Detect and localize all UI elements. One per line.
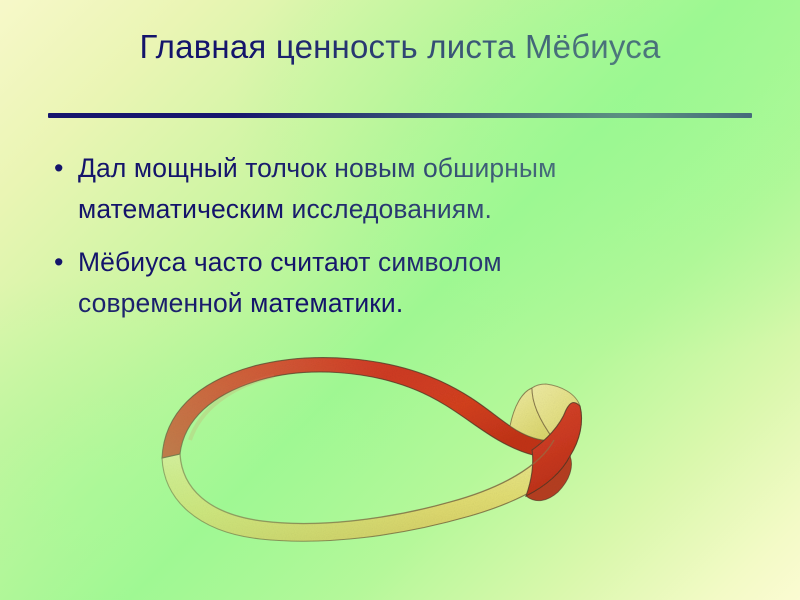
bullet-point-icon: • (50, 148, 78, 189)
mobius-top-band (162, 358, 570, 458)
mobius-strip-icon (150, 340, 590, 550)
bullet-list: • Дал мощный толчок новым обширным матем… (50, 148, 670, 336)
list-item: • Мёбиуса часто считают символом совреме… (50, 242, 670, 324)
bullet-text: Мёбиуса часто считают символом современн… (78, 242, 670, 324)
bullet-point-icon: • (50, 242, 78, 283)
mobius-strip-image (150, 340, 590, 550)
title-underline-rule (48, 113, 752, 118)
slide: Главная ценность листа Мёбиуса • Дал мощ… (0, 0, 800, 600)
mobius-front-band-edge (180, 440, 554, 524)
list-item: • Дал мощный толчок новым обширным матем… (50, 148, 670, 230)
bullet-text: Дал мощный толчок новым обширным математ… (78, 148, 670, 230)
mobius-front-band (162, 440, 570, 541)
page-title: Главная ценность листа Мёбиуса (48, 26, 752, 68)
